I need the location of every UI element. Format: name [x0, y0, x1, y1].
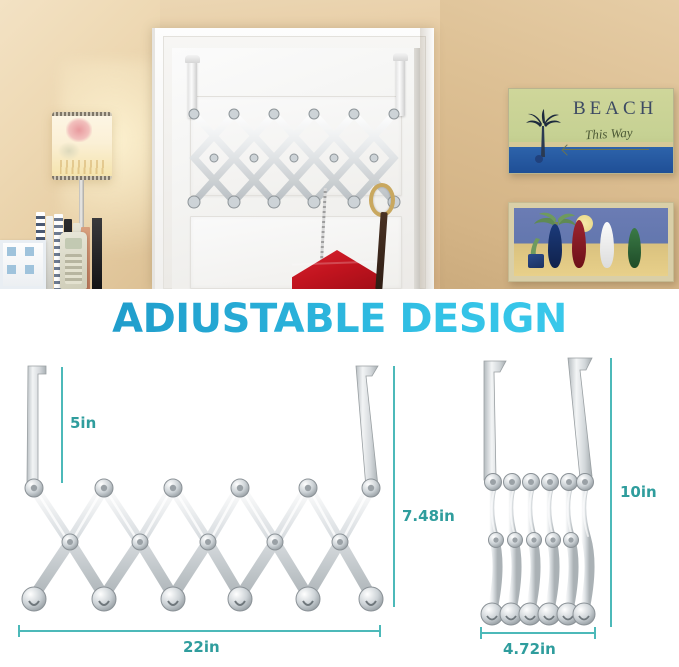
over-door-bar-right [356, 366, 378, 488]
picture-frame [0, 240, 46, 289]
lamp-shade-script [60, 160, 104, 174]
dark-binder [92, 218, 102, 289]
top-pivot-group [25, 479, 380, 497]
page-title: ADIUSTABLE DESIGN [0, 296, 679, 342]
frame-pattern-square [25, 247, 34, 256]
beach-sign-subtext: This Way [585, 125, 633, 143]
dimension-label-22in: 22in [183, 638, 220, 656]
dimension-line-5in [61, 367, 63, 483]
over-door-bar-right [568, 358, 592, 478]
dimension-label-10in: 10in [620, 483, 657, 501]
surfboard [600, 222, 614, 268]
frame-pattern-square [7, 247, 16, 256]
lamp-shade [52, 112, 112, 180]
frame-pattern-square [7, 265, 16, 274]
over-door-bar-left [27, 366, 46, 482]
middle-pivot-group [489, 533, 579, 548]
dimension-line-4-72in [480, 632, 596, 634]
lifestyle-photo: BEACH This Way [0, 0, 679, 289]
phone-keypad [65, 254, 82, 284]
diagram-section: 5in 7.48in 22in [0, 348, 679, 667]
book-item [46, 216, 53, 289]
frame-pattern-square [25, 265, 34, 274]
surfboard-art [508, 202, 674, 282]
surfboard-art-canvas [514, 208, 668, 276]
top-pivot-group [485, 474, 594, 491]
phone-screen [65, 238, 82, 249]
collapsed-rack-diagram: 10in 4.72in [440, 348, 679, 667]
lamp-shade-floral-2 [58, 142, 80, 160]
surfboard [548, 224, 562, 268]
beach-sign-heading: BEACH [573, 98, 657, 120]
beach-sign-art: BEACH This Way [508, 88, 674, 174]
expanded-rack-diagram: 5in 7.48in 22in [0, 348, 420, 667]
palm-tree-icon [523, 109, 563, 165]
dimension-line-22in [18, 630, 381, 632]
hook-group [22, 587, 383, 611]
left-arrow-icon [563, 149, 649, 150]
dimension-line-7-48in [393, 366, 395, 607]
over-door-bar-left [484, 361, 506, 480]
expanded-rack-illustration [0, 354, 420, 644]
middle-pivot-group [62, 534, 348, 550]
dimension-line-10in [610, 358, 612, 627]
surfboard [628, 228, 641, 268]
door-jamb-shadow [420, 28, 434, 289]
beach-chair [528, 254, 544, 268]
dimension-label-5in: 5in [70, 414, 96, 432]
product-image-root: BEACH This Way [0, 0, 679, 667]
cordless-phone [60, 232, 87, 289]
dimension-label-4-72in: 4.72in [503, 640, 556, 658]
lamp-shade-floral-1 [66, 118, 92, 142]
hook-group [481, 603, 595, 625]
lamp-shade-trim-top [52, 112, 112, 116]
